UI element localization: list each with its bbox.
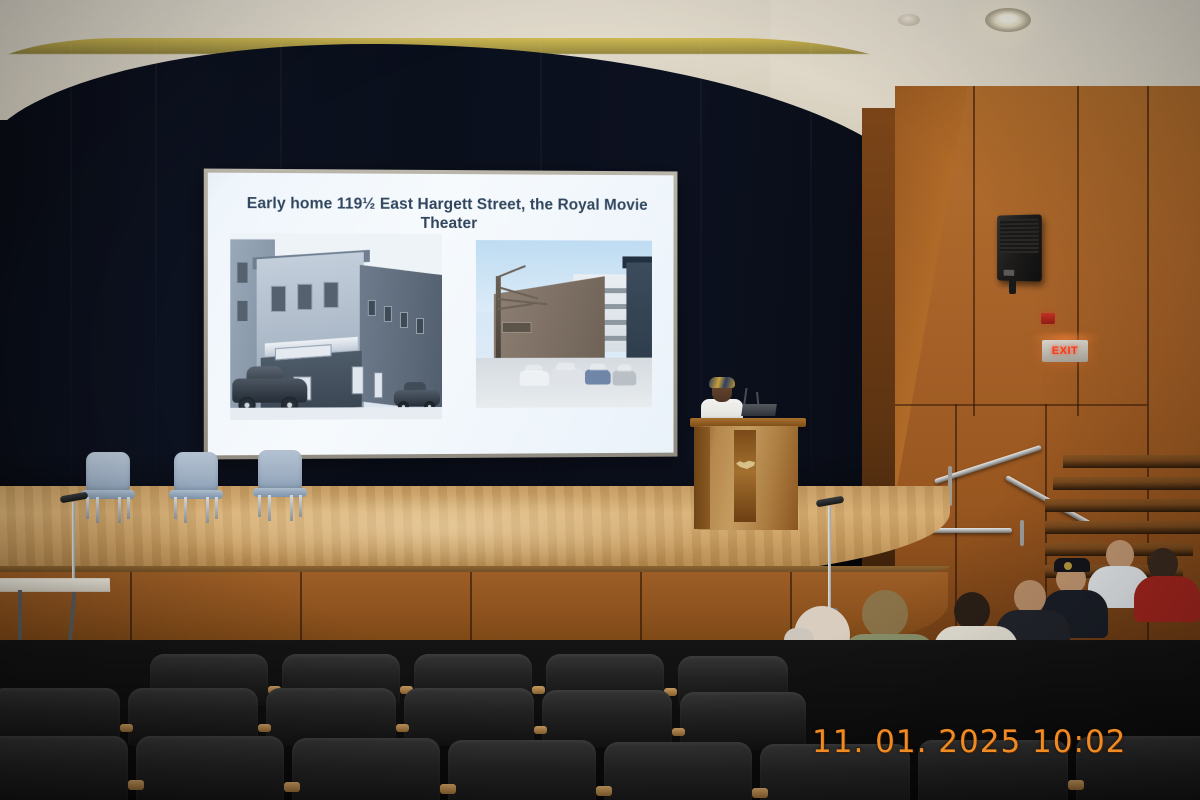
modern-parking-lot-photo [476, 240, 652, 408]
seat-armrest [396, 724, 409, 732]
seat-armrest [534, 726, 547, 734]
slide-photo-group [208, 233, 674, 450]
slide-title-line2: Theater [421, 215, 478, 232]
seat-armrest [1068, 780, 1084, 790]
seat-armrest [672, 728, 685, 736]
stage-chair-3 [252, 450, 308, 516]
seat [136, 736, 284, 800]
parked-car-grey [613, 371, 637, 386]
seat-armrest [752, 788, 768, 798]
cap-insignia-icon [1064, 562, 1072, 570]
wall-speaker-icon [997, 214, 1042, 281]
wooden-podium [694, 418, 802, 530]
stage-chair-1 [80, 452, 136, 518]
slide-title: Early home 119½ East Hargett Street, the… [242, 195, 652, 235]
seat-armrest [596, 786, 612, 796]
stage-chair-2 [168, 452, 224, 518]
presenter-head-wrap [709, 377, 735, 388]
seat-armrest [284, 782, 300, 792]
parked-car-silver [551, 369, 583, 384]
auditorium-seating [0, 640, 1200, 800]
speaker-bracket [1009, 279, 1016, 294]
projection-screen: Early home 119½ East Hargett Street, the… [204, 169, 678, 460]
exit-sign-label: EXIT [1052, 345, 1078, 357]
parked-car-blue [585, 370, 611, 385]
seat-armrest [440, 784, 456, 794]
exit-sign: EXIT [1042, 340, 1088, 362]
handrail-post-2 [1020, 520, 1024, 546]
seat-armrest [120, 724, 133, 732]
folding-table [0, 578, 110, 592]
slide-surface: Early home 119½ East Hargett Street, the… [208, 173, 674, 456]
table-leg-1 [18, 590, 22, 646]
auditorium-photo: EXIT Early home 119½ East Hargett Street… [0, 0, 1200, 800]
seat-armrest [128, 780, 144, 790]
parked-car-white [520, 371, 550, 386]
camera-timestamp: 11. 01. 2025 10:02 [812, 724, 1126, 760]
seat [604, 742, 752, 800]
seat-armrest [532, 686, 545, 694]
handrail-lower [932, 528, 1012, 533]
fire-alarm-strobe-icon [1041, 313, 1055, 324]
downlight-glow [998, 14, 1018, 23]
historic-building-photo [230, 233, 442, 420]
veteran-cap-icon [1054, 558, 1090, 572]
slide-title-line1: Early home 119½ East Hargett Street, the… [247, 195, 648, 214]
seat-armrest [258, 724, 271, 732]
seat [448, 740, 596, 800]
sprinkler-head-icon [898, 14, 920, 26]
seat [292, 738, 440, 800]
bare-tree-icon [480, 246, 550, 356]
seat [0, 736, 128, 800]
